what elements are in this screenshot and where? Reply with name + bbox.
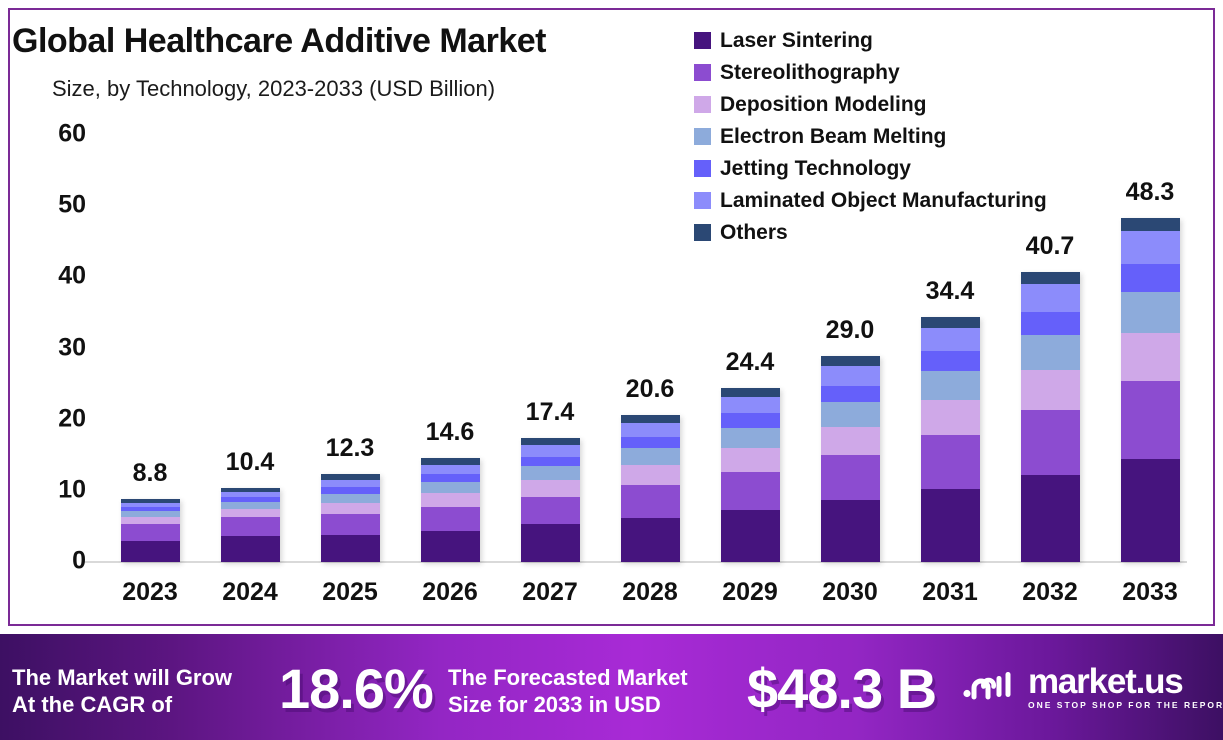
legend-item-label: Stereolithography xyxy=(720,62,900,83)
bar-segment[interactable] xyxy=(521,445,580,456)
forecast-caption-line2: Size for 2033 in USD xyxy=(448,692,688,719)
bar-total-label: 20.6 xyxy=(626,375,675,404)
bar-segment[interactable] xyxy=(621,465,680,485)
bar-segment[interactable] xyxy=(1121,333,1180,381)
bar-segment[interactable] xyxy=(221,509,280,518)
bar-segment[interactable] xyxy=(421,474,480,482)
bar-segment[interactable] xyxy=(321,503,380,514)
x-axis-tick-label: 2031 xyxy=(922,578,978,607)
bar-total-label: 40.7 xyxy=(1026,232,1075,261)
x-axis-tick-label: 2032 xyxy=(1022,578,1078,607)
bar-segment[interactable] xyxy=(721,472,780,510)
y-axis-tick-label: 20 xyxy=(58,404,86,433)
bar-segment[interactable] xyxy=(221,502,280,509)
bar-stack[interactable]: 40.72032 xyxy=(1021,272,1080,562)
bar-segment[interactable] xyxy=(1021,475,1080,562)
bar-segment[interactable] xyxy=(921,351,980,371)
legend-item-label: Laser Sintering xyxy=(720,30,873,51)
bar-segment[interactable] xyxy=(521,480,580,496)
y-axis-tick-label: 30 xyxy=(58,333,86,362)
y-axis-tick-label: 40 xyxy=(58,262,86,291)
bar-segment[interactable] xyxy=(1121,381,1180,459)
bar-segment[interactable] xyxy=(1021,410,1080,475)
bar-stack[interactable]: 17.42027 xyxy=(521,438,580,562)
legend-item[interactable]: Laser Sintering xyxy=(694,24,1047,56)
bar-segment[interactable] xyxy=(821,366,880,385)
bar-segment[interactable] xyxy=(421,507,480,531)
bar-segment[interactable] xyxy=(921,489,980,562)
bar-segment[interactable] xyxy=(621,437,680,448)
bar-total-label: 48.3 xyxy=(1126,178,1175,207)
page-subtitle: Size, by Technology, 2023-2033 (USD Bill… xyxy=(52,76,495,102)
forecast-caption-line1: The Forecasted Market xyxy=(448,665,688,692)
bar-segment[interactable] xyxy=(1121,264,1180,292)
bar-segment[interactable] xyxy=(1021,335,1080,370)
bar-segment[interactable] xyxy=(721,413,780,427)
bar-segment[interactable] xyxy=(921,328,980,351)
bar-segment[interactable] xyxy=(621,448,680,465)
market-us-wordmark: market.us ONE STOP SHOP FOR THE REPORTS xyxy=(1028,665,1223,710)
bar-segment[interactable] xyxy=(921,371,980,400)
bar-segment[interactable] xyxy=(1121,231,1180,264)
x-axis-tick-label: 2033 xyxy=(1122,578,1178,607)
logo-name: market.us xyxy=(1028,665,1223,698)
cagr-caption: The Market will Grow At the CAGR of xyxy=(12,665,232,719)
bar-stack[interactable]: 14.62026 xyxy=(421,458,480,562)
bar-segment[interactable] xyxy=(721,397,780,413)
bar-segment[interactable] xyxy=(1021,312,1080,335)
y-axis-tick-label: 60 xyxy=(58,120,86,149)
infographic-page: Global Healthcare Additive Market Size, … xyxy=(0,0,1223,740)
bar-stack[interactable]: 10.42024 xyxy=(221,488,280,562)
bar-segment[interactable] xyxy=(1021,272,1080,283)
bar-segment[interactable] xyxy=(821,402,880,427)
bar-segment[interactable] xyxy=(1121,459,1180,562)
market-us-logo[interactable]: market.us ONE STOP SHOP FOR THE REPORTS xyxy=(963,665,1223,710)
bar-segment[interactable] xyxy=(421,531,480,562)
x-axis-tick-label: 2030 xyxy=(822,578,878,607)
bar-segment[interactable] xyxy=(721,510,780,562)
bar-total-label: 17.4 xyxy=(526,398,575,427)
x-axis-tick-label: 2027 xyxy=(522,578,578,607)
bar-stack[interactable]: 29.02030 xyxy=(821,356,880,562)
x-axis-tick-label: 2029 xyxy=(722,578,778,607)
x-axis-tick-label: 2023 xyxy=(122,578,178,607)
bar-stack[interactable]: 12.32025 xyxy=(321,474,380,562)
bar-stack[interactable]: 20.62028 xyxy=(621,415,680,562)
bar-total-label: 34.4 xyxy=(926,277,975,306)
bar-segment[interactable] xyxy=(1021,284,1080,312)
y-axis-tick-label: 0 xyxy=(72,547,86,576)
bar-segment[interactable] xyxy=(321,494,380,503)
bottom-banner: The Market will Grow At the CAGR of 18.6… xyxy=(0,634,1223,740)
x-axis-tick-label: 2028 xyxy=(622,578,678,607)
y-axis-tick-label: 10 xyxy=(58,475,86,504)
legend-swatch-icon xyxy=(694,96,711,113)
bar-segment[interactable] xyxy=(721,428,780,449)
bar-segment[interactable] xyxy=(821,455,880,500)
bar-stack[interactable]: 34.42031 xyxy=(921,317,980,562)
x-axis-tick-label: 2024 xyxy=(222,578,278,607)
bar-segment[interactable] xyxy=(921,317,980,328)
bar-segment[interactable] xyxy=(1021,370,1080,411)
bar-segment[interactable] xyxy=(421,482,480,493)
y-gridline: 50 xyxy=(100,205,1200,206)
cagr-value: 18.6% xyxy=(279,656,433,721)
bar-total-label: 14.6 xyxy=(426,418,475,447)
bar-segment[interactable] xyxy=(821,356,880,367)
y-axis-tick-label: 50 xyxy=(58,191,86,220)
bar-segment[interactable] xyxy=(121,524,180,541)
legend-swatch-icon xyxy=(694,32,711,49)
bar-segment[interactable] xyxy=(721,448,780,471)
bar-total-label: 29.0 xyxy=(826,316,875,345)
bar-segment[interactable] xyxy=(1121,218,1180,231)
bar-segment[interactable] xyxy=(421,465,480,474)
cagr-caption-line2: At the CAGR of xyxy=(12,692,232,719)
forecast-value: $48.3 B xyxy=(747,656,936,721)
bar-segment[interactable] xyxy=(621,415,680,423)
x-axis-tick-label: 2026 xyxy=(422,578,478,607)
bar-total-label: 12.3 xyxy=(326,434,375,463)
bar-segment[interactable] xyxy=(721,388,780,397)
bar-segment[interactable] xyxy=(821,500,880,562)
plot-area: 01020304050608.8202310.4202412.3202514.6… xyxy=(100,135,1200,562)
bar-segment[interactable] xyxy=(821,427,880,455)
legend-item[interactable]: Deposition Modeling xyxy=(694,88,1047,120)
bar-stack[interactable]: 24.42029 xyxy=(721,388,780,562)
bar-segment[interactable] xyxy=(521,466,580,480)
bar-segment[interactable] xyxy=(621,518,680,562)
y-gridline: 60 xyxy=(100,134,1200,135)
bar-segment[interactable] xyxy=(921,435,980,489)
legend-swatch-icon xyxy=(694,64,711,81)
bar-segment[interactable] xyxy=(821,386,880,402)
legend-item-label: Deposition Modeling xyxy=(720,94,926,115)
market-us-mark-icon xyxy=(963,668,1017,707)
bar-segment[interactable] xyxy=(521,438,580,445)
bar-segment[interactable] xyxy=(221,536,280,562)
bar-segment[interactable] xyxy=(221,517,280,536)
bar-total-label: 24.4 xyxy=(726,348,775,377)
bar-segment[interactable] xyxy=(521,524,580,562)
bar-segment[interactable] xyxy=(321,480,380,487)
bar-segment[interactable] xyxy=(121,541,180,562)
bar-segment[interactable] xyxy=(321,514,380,535)
x-axis-tick-label: 2025 xyxy=(322,578,378,607)
bar-total-label: 8.8 xyxy=(133,459,168,488)
logo-tagline: ONE STOP SHOP FOR THE REPORTS xyxy=(1028,700,1223,710)
forecast-caption: The Forecasted Market Size for 2033 in U… xyxy=(448,665,688,719)
bar-segment[interactable] xyxy=(521,457,580,466)
bar-stack[interactable]: 48.32033 xyxy=(1121,218,1180,562)
bar-segment[interactable] xyxy=(621,423,680,437)
bar-segment[interactable] xyxy=(421,493,480,507)
legend-item[interactable]: Stereolithography xyxy=(694,56,1047,88)
bar-segment[interactable] xyxy=(321,535,380,562)
bar-segment[interactable] xyxy=(921,400,980,434)
page-title: Global Healthcare Additive Market xyxy=(12,22,546,61)
bar-segment[interactable] xyxy=(1121,292,1180,333)
bar-segment[interactable] xyxy=(521,497,580,525)
bar-stack[interactable]: 8.82023 xyxy=(121,499,180,562)
bar-total-label: 10.4 xyxy=(226,448,275,477)
bar-segment[interactable] xyxy=(621,485,680,518)
cagr-caption-line1: The Market will Grow xyxy=(12,665,232,692)
